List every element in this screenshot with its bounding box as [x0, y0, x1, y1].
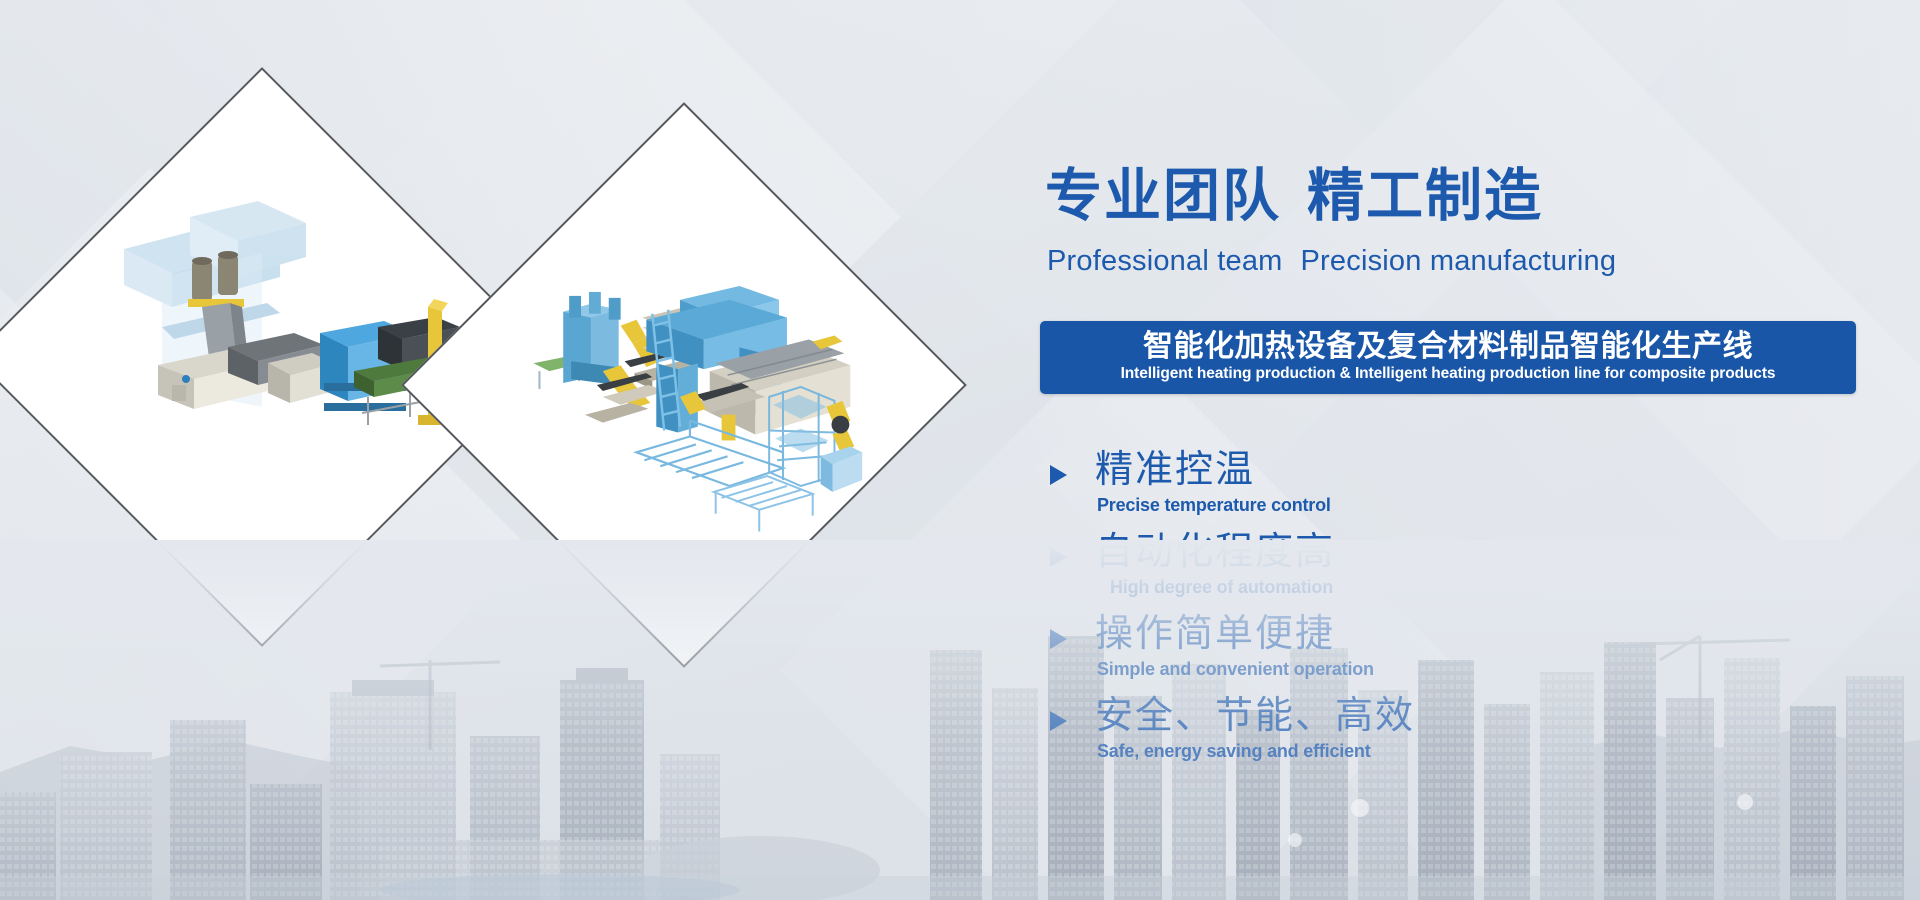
feature-label-english: Precise temperature control [1097, 495, 1331, 516]
headline-cn-part1: 专业团队 [1045, 164, 1281, 228]
production-line-render-1 [59, 154, 465, 560]
headline-english: Professional teamPrecision manufacturing [1047, 245, 1616, 278]
headline-en-part1: Professional team [1047, 245, 1283, 277]
production-line-render-2 [486, 187, 882, 583]
triangle-right-icon [1050, 465, 1067, 485]
product-title-english: Intelligent heating production & Intelli… [1121, 365, 1776, 384]
headline-cn-part2: 精工制造 [1307, 164, 1543, 228]
product-title-band: 智能化加热设备及复合材料制品智能化生产线 Intelligent heating… [1040, 321, 1856, 394]
promotional-banner: 专业团队精工制造 Professional teamPrecision manu… [0, 0, 1920, 900]
feature-item: 精准控温 Precise temperature control [1050, 452, 1750, 534]
headline-chinese: 专业团队精工制造 [1045, 168, 1543, 225]
feature-label-chinese: 精准控温 [1095, 446, 1255, 495]
headline-en-part2: Precision manufacturing [1301, 245, 1617, 277]
city-skyline-backdrop [0, 540, 1920, 900]
product-title-chinese: 智能化加热设备及复合材料制品智能化生产线 [1143, 331, 1753, 363]
